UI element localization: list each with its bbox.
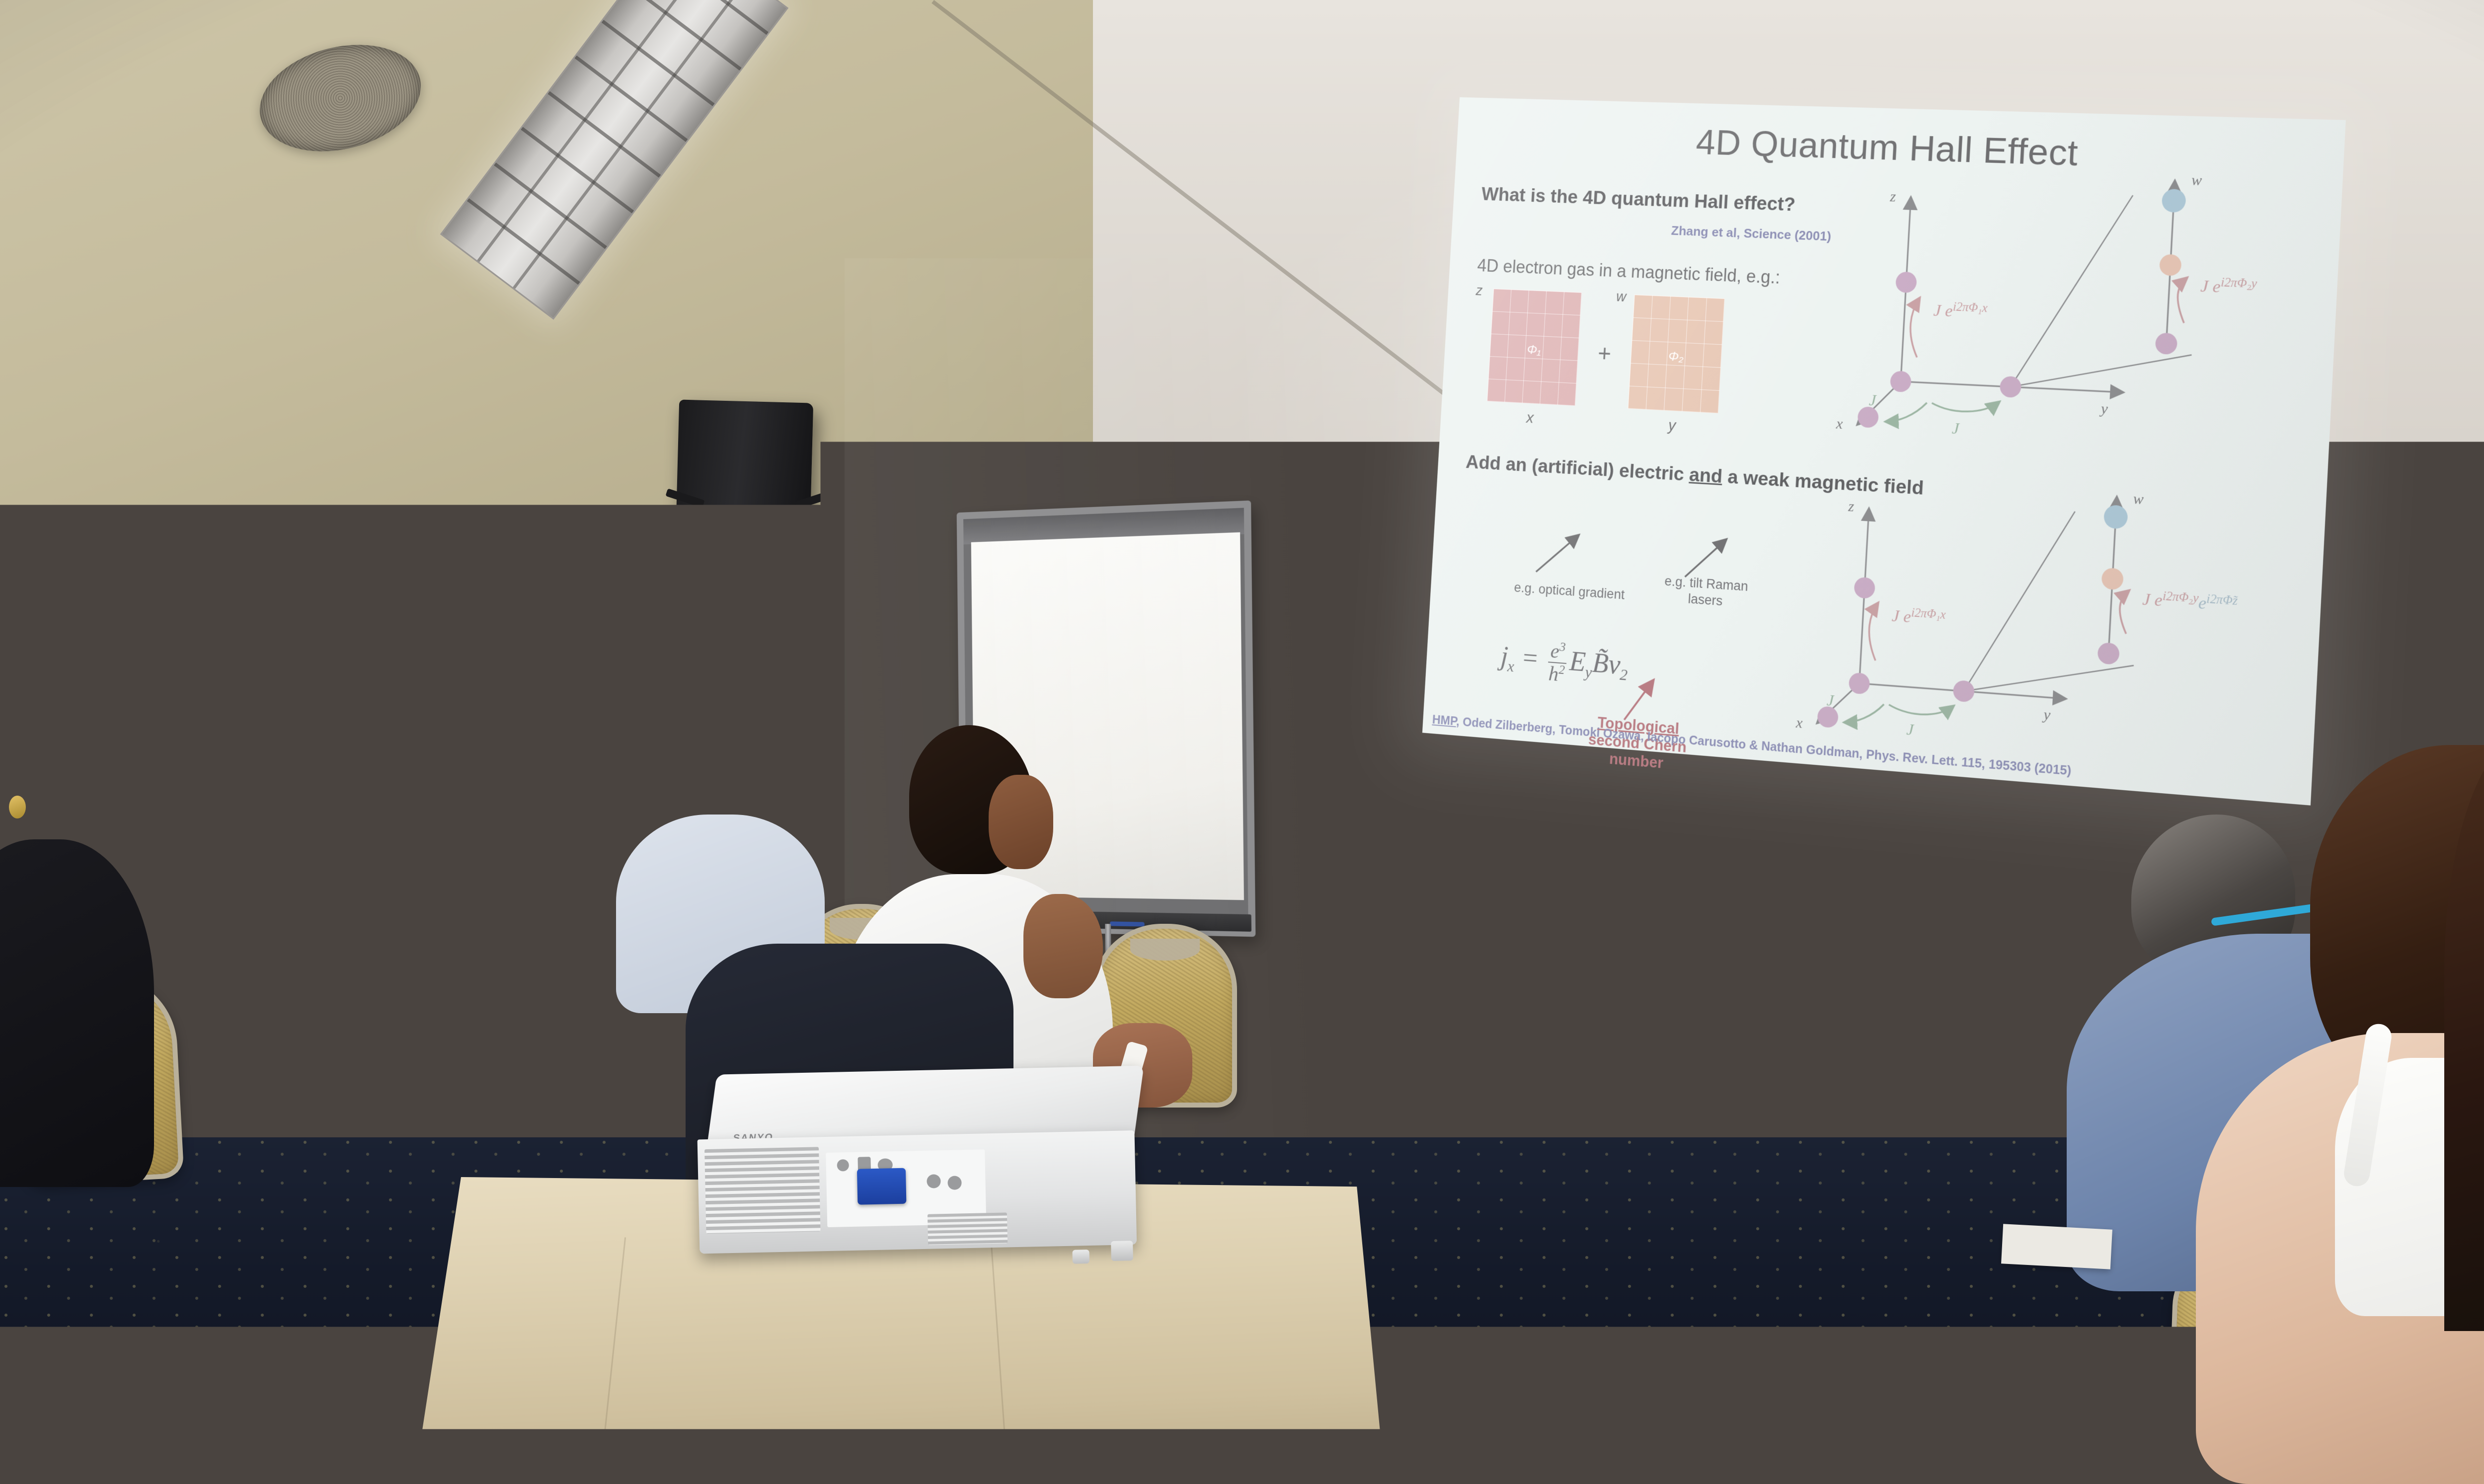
eq-E-sub: y: [1585, 664, 1593, 681]
eq-lhs-sub: x: [1507, 658, 1515, 675]
flux-square-phi1: Φ₁ z x: [1487, 289, 1582, 406]
lattice-bottom-J-2: J: [1906, 720, 1914, 739]
slide-citation-zhang: Zhang et al, Science (2001): [1671, 223, 1832, 244]
lattice-top-axis-w: w: [2191, 172, 2202, 189]
lattice-top-J-2: J: [1951, 419, 1959, 438]
slide-4d-quantum-hall-effect: 4D Quantum Hall Effect What is the 4D qu…: [1422, 97, 2346, 806]
face-profile-center: [989, 775, 1053, 869]
projection-screen: 4D Quantum Hall Effect What is the 4D qu…: [1422, 97, 2346, 806]
paper-sheet-right: [2001, 1224, 2112, 1269]
hand-to-chin: [1023, 894, 1103, 998]
reference-hmp-link[interactable]: HMP: [1432, 713, 1457, 728]
lattice-bottom-axis-y: y: [2043, 706, 2051, 724]
lattice-bottom-axis-x: x: [1795, 715, 1803, 732]
flux2-axis-left: w: [1616, 289, 1627, 305]
lattice-bottom-J-1: J: [1826, 691, 1834, 710]
eq-equals: =: [1520, 643, 1540, 674]
lattice-top-J-1: J: [1868, 391, 1876, 410]
photograph-scene: 4D Quantum Hall Effect What is the 4D qu…: [0, 0, 2484, 1484]
projector-foot-left: [1072, 1250, 1089, 1264]
slide-question-heading: What is the 4D quantum Hall effect?: [1481, 184, 1796, 216]
lattice-diagram-top: z y x w J ei2πΦ₁x J ei2πΦ₂y J J: [1837, 166, 2332, 495]
cable-tag: [708, 1365, 736, 1413]
eq-fraction: e3 h2: [1547, 640, 1568, 685]
lattice-diagram-bottom: z y x w J ei2πΦ₁x J ei2πΦ₂yei2πΦ̃z J J: [1796, 471, 2321, 800]
current-equation: jx = e3 h2 EyB̃ν2: [1499, 636, 1629, 690]
flux1-axis-left: z: [1475, 283, 1483, 299]
lattice-bottom-axis-z: z: [1848, 498, 1855, 516]
plus-symbol: +: [1597, 340, 1612, 368]
lattice-top-axis-z: z: [1890, 188, 1896, 205]
lattice-top-axis-x: x: [1836, 416, 1843, 433]
eq-den-sup: 2: [1558, 663, 1565, 677]
flux-square-phi2: Φ₂ w y: [1628, 295, 1725, 413]
attendee-notetaker-hand: [278, 1271, 392, 1396]
annotation-tilt-raman: e.g. tilt Raman lasers: [1655, 573, 1757, 612]
projector-vent-bottom: [928, 1212, 1008, 1245]
lattice-bottom-graphics: [1796, 471, 2321, 800]
eq-btilde: B̃: [1592, 648, 1610, 679]
lattice-bottom-axis-w: w: [2133, 491, 2144, 509]
flux1-axis-bottom: x: [1485, 407, 1575, 429]
slide-subheading: 4D electron gas in a magnetic field, e.g…: [1477, 255, 1781, 288]
annotation-arrows: [1431, 469, 1816, 605]
eq-num-sup: 3: [1559, 640, 1566, 654]
eq-den: h: [1548, 663, 1559, 685]
lattice-top-axis-y: y: [2100, 400, 2108, 418]
eq-E: E: [1569, 646, 1587, 677]
lattice-top-hopping-right: J ei2πΦ₂y: [2200, 275, 2257, 298]
lattice-top-hopping-left: J ei2πΦ₁x: [1933, 299, 1988, 323]
beard: [397, 745, 455, 800]
flux2-axis-bottom: y: [1627, 414, 1718, 437]
flipchart-whiteboard: [957, 501, 1256, 937]
earring: [9, 796, 26, 818]
lattice-top-graphics: [1837, 166, 2332, 495]
eq-num: e: [1550, 640, 1560, 663]
projector-foot-right: [1111, 1241, 1133, 1261]
lattice-bottom-hopping-left: J ei2πΦ₁x: [1891, 605, 1946, 630]
